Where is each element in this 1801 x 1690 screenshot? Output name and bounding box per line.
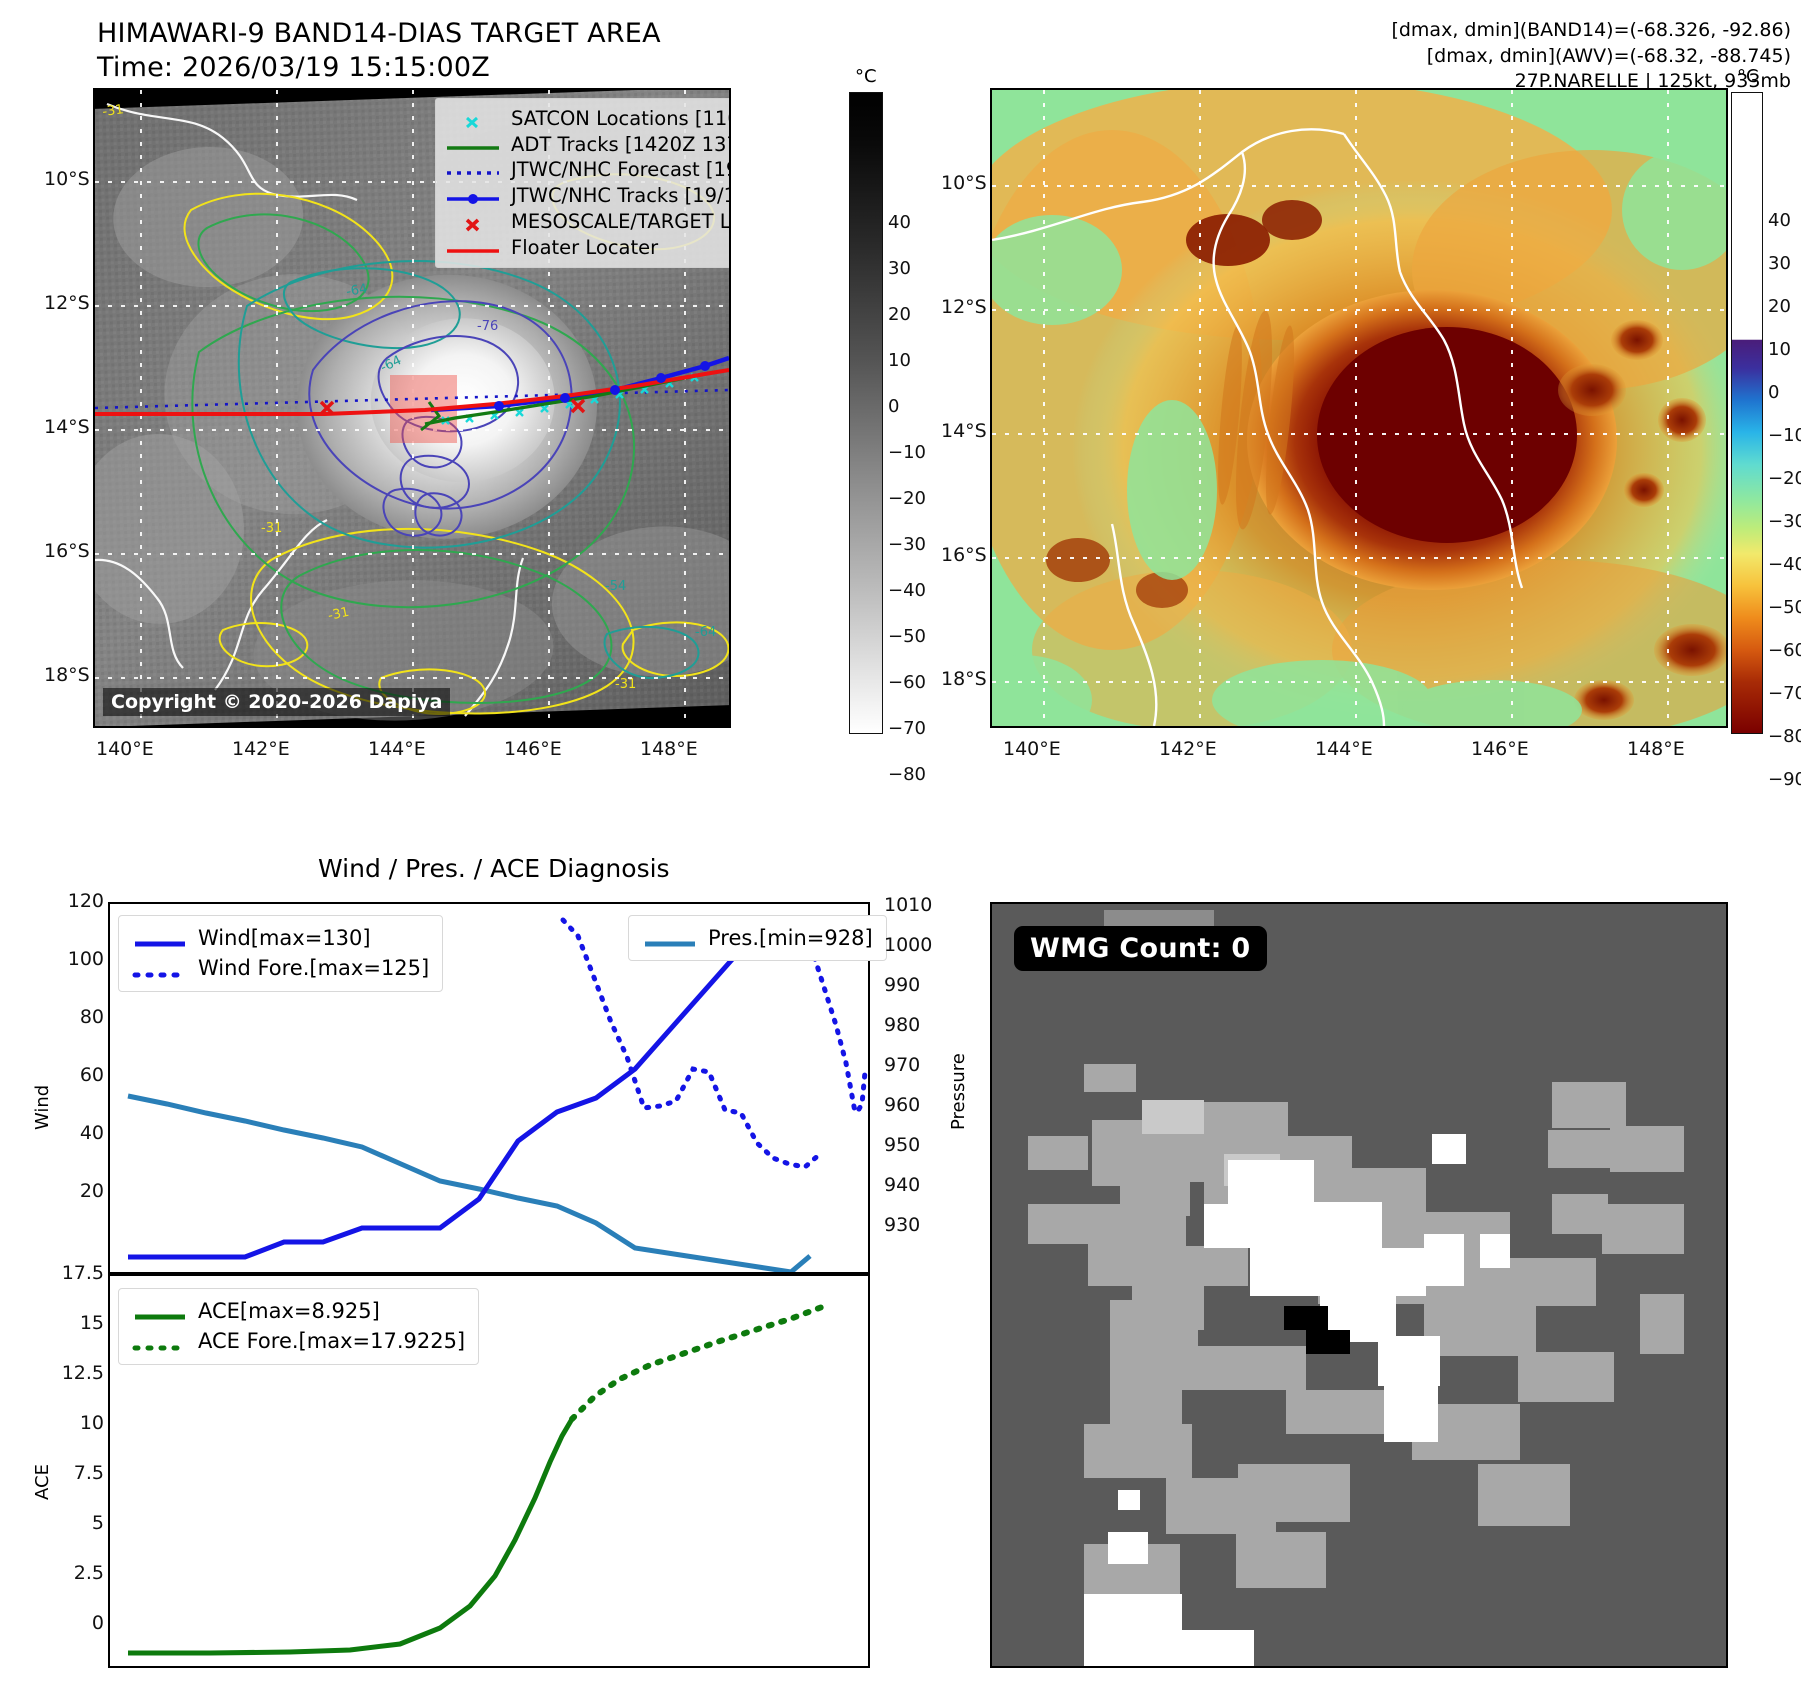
ir-lon-label-3: 146°E	[504, 738, 562, 760]
ace-line-icon	[132, 1303, 188, 1319]
wind-ytick-80: 80	[52, 1006, 104, 1028]
wind-ytick-20: 20	[52, 1180, 104, 1202]
wind-ytick-120: 120	[52, 890, 104, 912]
mesoscale-x-icon	[445, 214, 501, 230]
ir-lon-label-4: 148°E	[640, 738, 698, 760]
legend-item-adt: ADT Tracks [1420Z 137.4 921.0]	[445, 132, 731, 158]
pres-ytick-980: 980	[884, 1014, 920, 1036]
svg-text:-31: -31	[261, 521, 282, 536]
ir-cb-tick-4: 0	[888, 396, 899, 417]
ir-cb-tick-6: −20	[888, 488, 926, 509]
legend-label: SATCON Locations [1100Z 143 920]	[511, 106, 731, 132]
ace-forecast-series	[572, 1307, 822, 1419]
awv-cb-tick-7: −30	[1768, 511, 1801, 532]
awv-lat-label-2: 14°S	[941, 420, 987, 442]
jtwc-forecast-dotted-icon	[445, 162, 501, 178]
jtwc-track-line-marker-icon	[445, 188, 501, 204]
awv-lon-label-0: 140°E	[1003, 738, 1061, 760]
page-timestamp: Time: 2026/03/19 15:15:00Z	[97, 52, 490, 83]
awv-cb-tick-10: −60	[1768, 640, 1801, 661]
ace-ytick-00: 0	[36, 1612, 104, 1634]
legend-item-satcon: SATCON Locations [1100Z 143 920]	[445, 106, 731, 132]
awv-cb-tick-4: 0	[1768, 382, 1779, 403]
legend-item-pressure: Pres.[min=928]	[642, 923, 873, 953]
awv-cb-tick-2: 20	[1768, 296, 1791, 317]
legend-label: ADT Tracks [1420Z 137.4 921.0]	[511, 132, 731, 158]
ace-ytick-100: 10	[36, 1412, 104, 1434]
ir-lat-label-1: 12°S	[44, 292, 90, 314]
awv-cb-tick-8: −40	[1768, 554, 1801, 575]
ir-cb-tick-9: −50	[888, 626, 926, 647]
diagnosis-title: Wind / Pres. / ACE Diagnosis	[318, 854, 670, 883]
ir-lat-label-2: 14°S	[44, 416, 90, 438]
pres-ytick-1000: 1000	[884, 934, 932, 956]
satcon-x-icon	[445, 111, 501, 127]
ace-series	[128, 1419, 572, 1653]
pressure-chart-legend: Pres.[min=928]	[628, 915, 887, 961]
wind-ytick-100: 100	[52, 948, 104, 970]
wind-ytick-40: 40	[52, 1122, 104, 1144]
legend-label: Pres.[min=928]	[708, 923, 873, 953]
ir-cb-tick-1: 30	[888, 258, 911, 279]
awv-cb-tick-12: −80	[1768, 726, 1801, 747]
pres-ytick-970: 970	[884, 1054, 920, 1076]
awv-cb-tick-9: −50	[1768, 597, 1801, 618]
awv-cb-tick-13: −90	[1768, 769, 1801, 790]
legend-item-ace-forecast: ACE Fore.[max=17.9225]	[132, 1326, 465, 1356]
ir-cb-tick-11: −70	[888, 718, 926, 739]
legend-item-wind-forecast: Wind Fore.[max=125]	[132, 953, 429, 983]
header-metrics: [dmax, dmin](BAND14)=(-68.326, -92.86) […	[1391, 18, 1791, 95]
wmg-panel[interactable]: WMG Count: 0	[990, 902, 1728, 1668]
svg-text:-31: -31	[101, 102, 124, 120]
awv-lat-label-1: 12°S	[941, 296, 987, 318]
ir-cb-tick-7: −30	[888, 534, 926, 555]
wind-axis-label: Wind	[32, 1085, 53, 1130]
wind-line-icon	[132, 930, 188, 946]
ir-cb-tick-2: 20	[888, 304, 911, 325]
pressure-axis-label: Pressure	[948, 1053, 969, 1130]
legend-item-floater: Floater Locater	[445, 235, 731, 261]
awv-cb-tick-6: −20	[1768, 468, 1801, 489]
awv-image	[992, 90, 1726, 726]
wind-forecast-dotted-icon	[132, 961, 188, 977]
floater-line-icon	[445, 240, 501, 256]
legend-item-jtwc-forecast: JTWC/NHC Forecast [19/1200Z]	[445, 157, 731, 183]
svg-text:-31: -31	[615, 677, 636, 692]
dmax-band14-text: [dmax, dmin](BAND14)=(-68.326, -92.86)	[1391, 18, 1791, 44]
svg-text:-64: -64	[695, 625, 716, 640]
pres-ytick-950: 950	[884, 1134, 920, 1156]
pressure-series	[128, 1096, 810, 1272]
awv-lon-label-3: 146°E	[1471, 738, 1529, 760]
map-legend: SATCON Locations [1100Z 143 920] ADT Tra…	[435, 98, 731, 268]
ir-lat-label-3: 16°S	[44, 540, 90, 562]
wmg-count-badge: WMG Count: 0	[1014, 926, 1267, 971]
pres-ytick-940: 940	[884, 1174, 920, 1196]
svg-text:-54: -54	[605, 579, 626, 594]
awv-lat-label-4: 18°S	[941, 668, 987, 690]
ir-lon-label-2: 144°E	[368, 738, 426, 760]
pres-ytick-990: 990	[884, 974, 920, 996]
ir-cb-tick-8: −40	[888, 580, 926, 601]
ir-lat-label-0: 10°S	[44, 168, 90, 190]
dmax-awv-text: [dmax, dmin](AWV)=(-68.32, -88.745)	[1391, 44, 1791, 70]
awv-lon-label-1: 142°E	[1159, 738, 1217, 760]
ace-ytick-175: 17.5	[36, 1262, 104, 1284]
wind-ytick-60: 60	[52, 1064, 104, 1086]
ace-chart-legend: ACE[max=8.925] ACE Fore.[max=17.9225]	[118, 1288, 479, 1365]
awv-colorbar	[1731, 92, 1763, 734]
ace-forecast-dotted-icon	[132, 1334, 188, 1350]
legend-label: ACE Fore.[max=17.9225]	[198, 1326, 465, 1356]
ace-ytick-75: 7.5	[36, 1462, 104, 1484]
pressure-line-icon	[642, 930, 698, 946]
ace-ytick-25: 2.5	[36, 1562, 104, 1584]
awv-cb-tick-5: −10	[1768, 425, 1801, 446]
legend-label: MESOSCALE/TARGET Location	[511, 209, 731, 235]
awv-lat-label-3: 16°S	[941, 544, 987, 566]
ir-colorbar-unit: °C	[855, 66, 877, 87]
legend-label: Wind[max=130]	[198, 923, 371, 953]
awv-cb-tick-1: 30	[1768, 253, 1791, 274]
legend-item-ace: ACE[max=8.925]	[132, 1296, 465, 1326]
awv-cb-tick-3: 10	[1768, 339, 1791, 360]
page-title: HIMAWARI-9 BAND14-DIAS TARGET AREA	[97, 18, 661, 49]
ir-cb-tick-3: 10	[888, 350, 911, 371]
ir-cb-tick-10: −60	[888, 672, 926, 693]
legend-label: ACE[max=8.925]	[198, 1296, 380, 1326]
ir-cb-tick-0: 40	[888, 212, 911, 233]
svg-text:-76: -76	[477, 319, 498, 334]
wind-chart-legend: Wind[max=130] Wind Fore.[max=125]	[118, 915, 443, 992]
legend-label: Wind Fore.[max=125]	[198, 953, 429, 983]
copyright-caption: Copyright © 2020-2026 Dapiya	[103, 688, 450, 716]
pres-ytick-960: 960	[884, 1094, 920, 1116]
awv-lon-label-2: 144°E	[1315, 738, 1373, 760]
ir-cb-tick-12: −80	[888, 764, 926, 785]
awv-lat-label-0: 10°S	[941, 172, 987, 194]
ir-cb-tick-5: −10	[888, 442, 926, 463]
wmg-image	[992, 904, 1726, 1666]
ir-satellite-panel[interactable]: -31 -64 -76 -64 -31 -54 -31 -64 -31	[93, 88, 731, 728]
adt-line-icon	[445, 137, 501, 153]
legend-label: JTWC/NHC Tracks [19/1200Z]	[511, 183, 731, 209]
ace-ytick-150: 15	[36, 1312, 104, 1334]
legend-item-mesoscale: MESOSCALE/TARGET Location	[445, 209, 731, 235]
ir-colorbar	[849, 92, 883, 734]
ir-lat-label-4: 18°S	[44, 664, 90, 686]
pres-ytick-930: 930	[884, 1214, 920, 1236]
pres-ytick-1010: 1010	[884, 894, 932, 916]
ace-ytick-50: 5	[36, 1512, 104, 1534]
ir-lon-label-0: 140°E	[96, 738, 154, 760]
awv-cb-tick-11: −70	[1768, 683, 1801, 704]
ir-lon-label-1: 142°E	[232, 738, 290, 760]
legend-label: Floater Locater	[511, 235, 658, 261]
awv-lon-label-4: 148°E	[1627, 738, 1685, 760]
awv-cb-tick-0: 40	[1768, 210, 1791, 231]
legend-label: JTWC/NHC Forecast [19/1200Z]	[511, 157, 731, 183]
legend-item-jtwc-tracks: JTWC/NHC Tracks [19/1200Z]	[445, 183, 731, 209]
legend-item-wind: Wind[max=130]	[132, 923, 429, 953]
ace-ytick-125: 12.5	[36, 1362, 104, 1384]
awv-satellite-panel[interactable]	[990, 88, 1728, 728]
awv-colorbar-unit: °C	[1737, 66, 1759, 87]
